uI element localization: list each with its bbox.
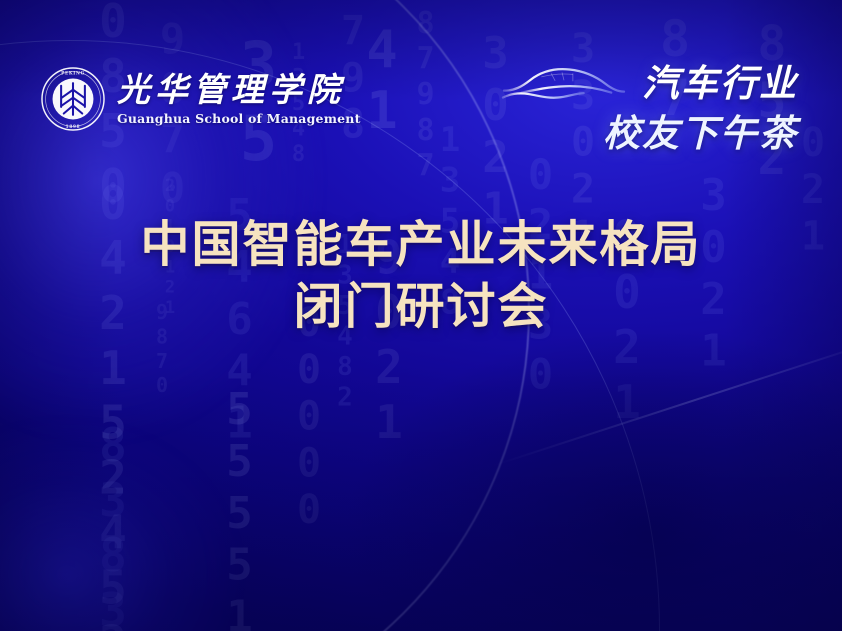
svg-text:1898: 1898: [66, 124, 81, 129]
school-name-cn: 光华管理学院: [117, 73, 345, 106]
brand-line-2: 校友下午茶: [603, 114, 798, 154]
presentation-slide: 0850042152452838383898702010121987035546…: [0, 0, 842, 631]
title-line-1: 中国智能车产业未来格局: [0, 214, 842, 276]
car-outline-icon: [500, 58, 628, 110]
svg-text:PEKING: PEKING: [61, 71, 85, 76]
guanghua-logo: PEKING 1898 光华管理学院 Guanghua School of Ma…: [40, 66, 361, 132]
title-line-2: 闭门研讨会: [0, 276, 842, 338]
slide-title: 中国智能车产业未来格局 闭门研讨会: [0, 214, 842, 337]
school-name-en: Guanghua School of Management: [117, 113, 361, 126]
peking-university-seal-icon: PEKING 1898: [40, 66, 106, 132]
brand-line-1: 汽车行业: [642, 64, 798, 104]
event-brand: 汽车行业 校友下午茶: [500, 58, 798, 154]
